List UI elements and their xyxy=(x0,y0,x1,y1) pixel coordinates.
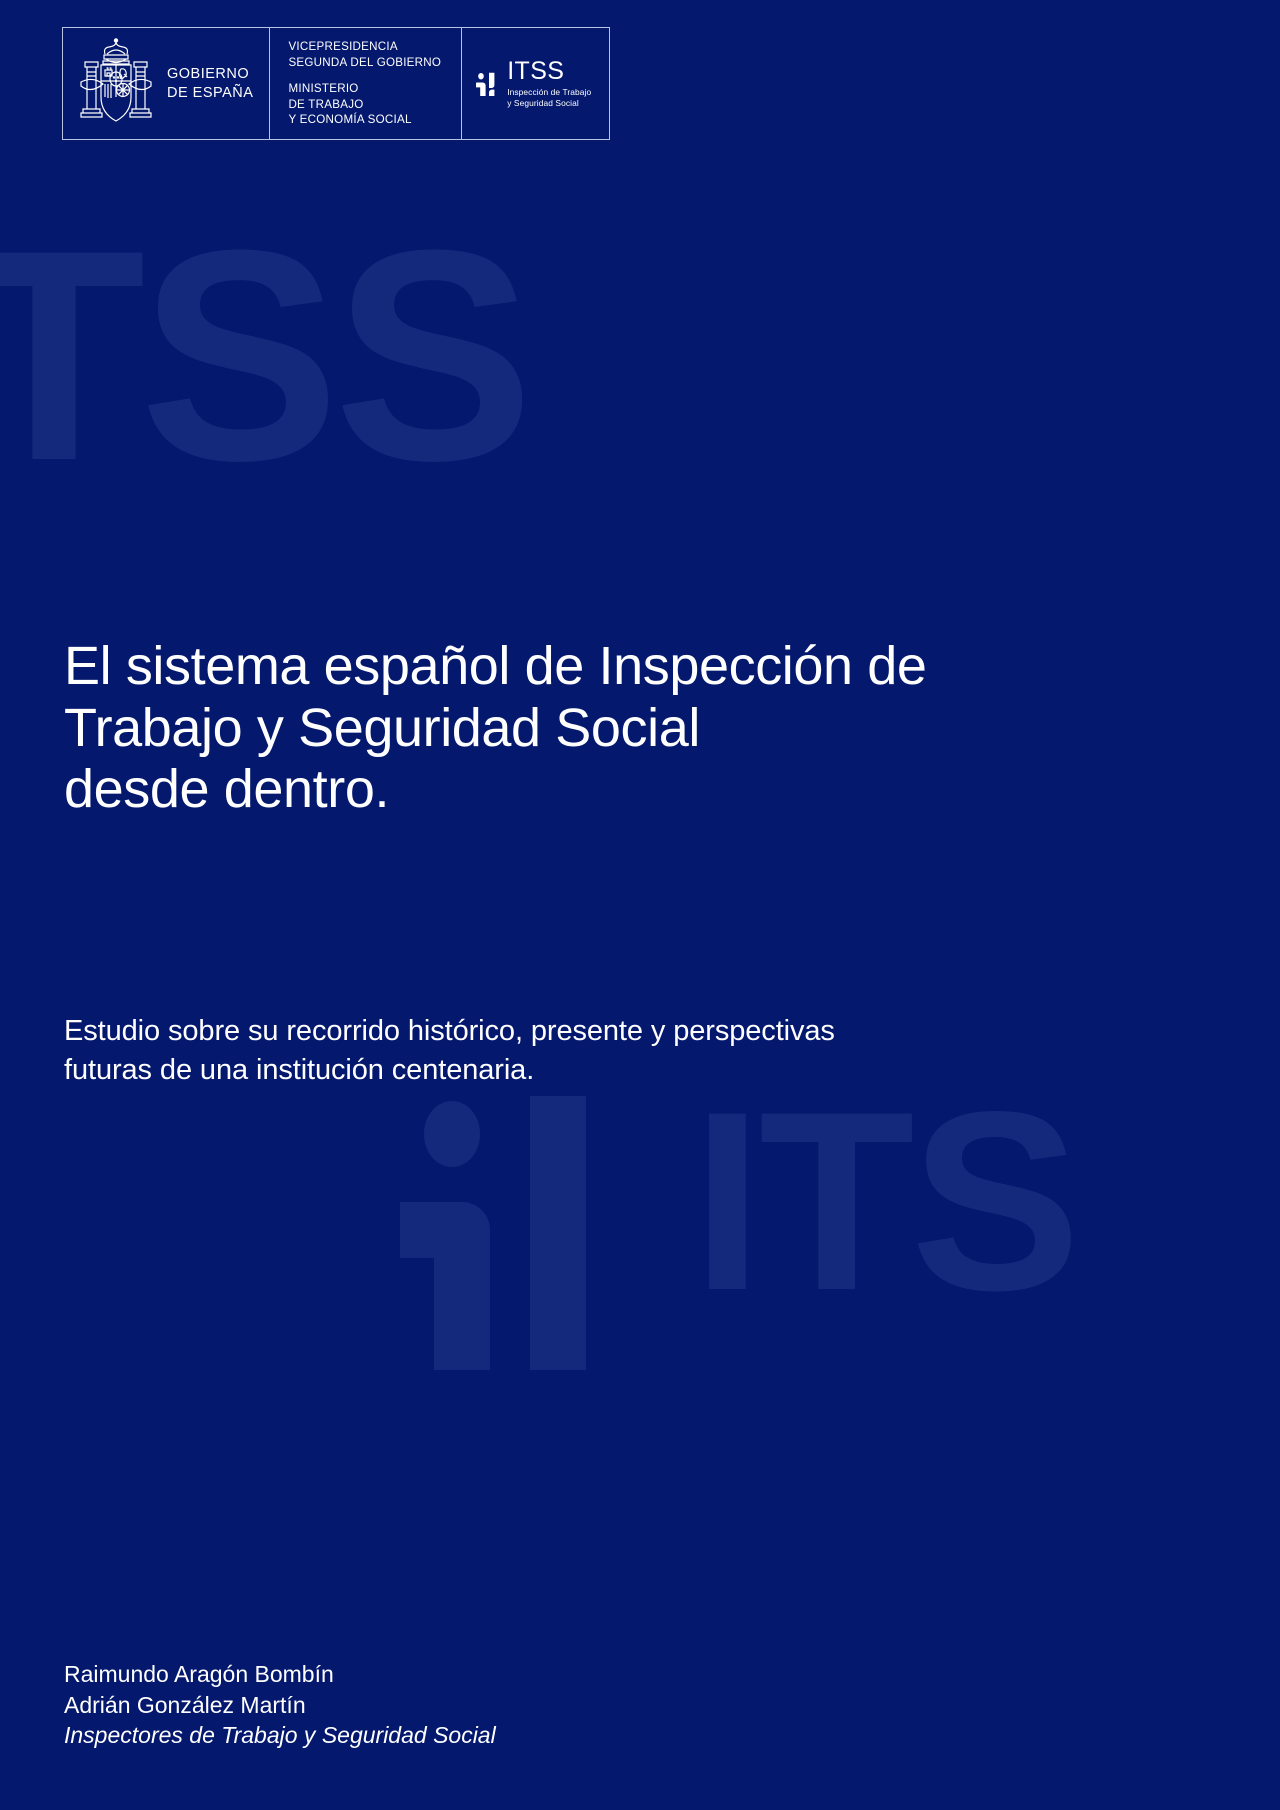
itss-pictogram-icon xyxy=(476,72,498,96)
cover-title-line3: desde dentro. xyxy=(64,759,1074,821)
logo-cell-ministry: VICEPRESIDENCIA SEGUNDA DEL GOBIERNO MIN… xyxy=(269,28,461,139)
itss-pictogram-icon xyxy=(400,1090,630,1370)
author-name-1: Raimundo Aragón Bombín xyxy=(64,1659,496,1690)
ministry-spacer xyxy=(288,70,441,81)
logo-cell-government: GOBIERNO DE ESPAÑA xyxy=(63,28,269,139)
agency-name: Inspección de Trabajo y Seguridad Social xyxy=(507,87,591,109)
spain-coat-of-arms-icon xyxy=(77,38,155,130)
government-label-line1: GOBIERNO xyxy=(167,65,253,83)
cover-subtitle-line1: Estudio sobre su recorrido histórico, pr… xyxy=(64,1012,1074,1051)
author-name-2: Adrián González Martín xyxy=(64,1690,496,1721)
cover-title: El sistema español de Inspección de Trab… xyxy=(64,636,1074,821)
ministry-line4: DE TRABAJO xyxy=(288,97,441,112)
cover-authors: Raimundo Aragón Bombín Adrián González M… xyxy=(64,1659,496,1751)
agency-name-line1: Inspección de Trabajo xyxy=(507,87,591,98)
cover-subtitle: Estudio sobre su recorrido histórico, pr… xyxy=(64,1012,1074,1089)
cover-page: ITSS ITS xyxy=(0,0,1280,1810)
cover-subtitle-line2: futuras de una institución centenaria. xyxy=(64,1051,1074,1090)
ministry-line5: Y ECONOMÍA SOCIAL xyxy=(288,112,441,127)
agency-name-line2: y Seguridad Social xyxy=(507,98,591,109)
ministry-label: VICEPRESIDENCIA SEGUNDA DEL GOBIERNO MIN… xyxy=(288,39,441,127)
government-label-line2: DE ESPAÑA xyxy=(167,84,253,102)
cover-title-line2: Trabajo y Seguridad Social xyxy=(64,698,1074,760)
agency-texts: ITSS Inspección de Trabajo y Seguridad S… xyxy=(507,59,591,109)
ministry-line1: VICEPRESIDENCIA xyxy=(288,39,441,54)
government-label: GOBIERNO DE ESPAÑA xyxy=(167,65,253,101)
ministry-line2: SEGUNDA DEL GOBIERNO xyxy=(288,55,441,70)
watermark-itss-bottom-text: ITS xyxy=(692,1090,1077,1314)
ministry-line3: MINISTERIO xyxy=(288,81,441,96)
agency-acronym: ITSS xyxy=(507,59,591,84)
logo-cell-agency: ITSS Inspección de Trabajo y Seguridad S… xyxy=(461,28,609,139)
institutional-logo-band: GOBIERNO DE ESPAÑA VICEPRESIDENCIA SEGUN… xyxy=(62,27,610,140)
watermark-itss-bottom: ITS xyxy=(400,1090,1077,1370)
watermark-itss-top: ITSS xyxy=(0,205,528,505)
author-role: Inspectores de Trabajo y Seguridad Socia… xyxy=(64,1720,496,1751)
cover-title-line1: El sistema español de Inspección de xyxy=(64,636,1074,698)
